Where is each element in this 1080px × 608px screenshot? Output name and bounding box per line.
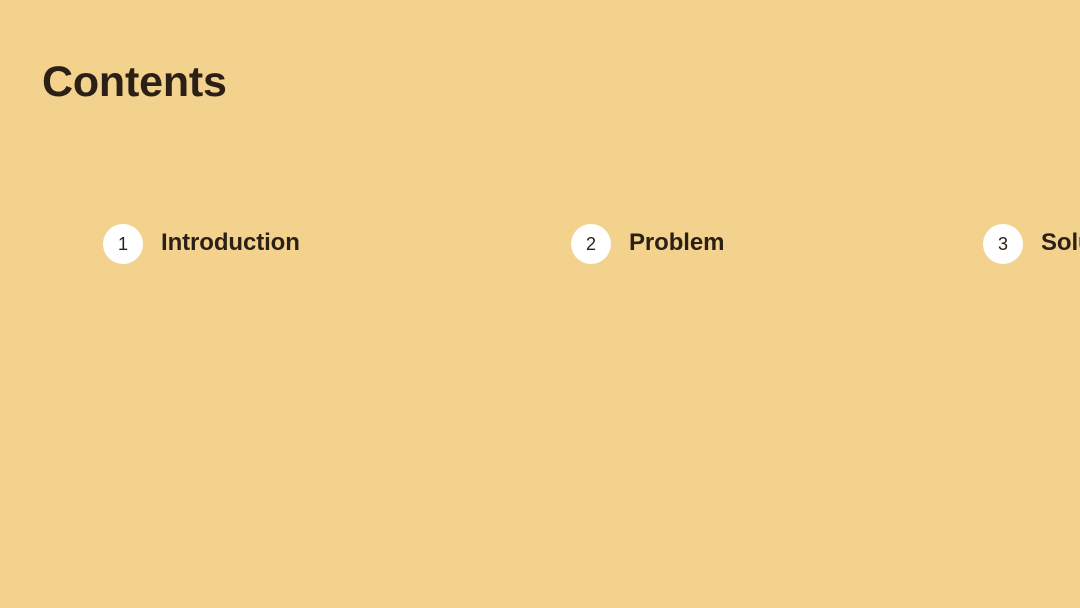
- item-number-badge: 1: [103, 224, 143, 264]
- item-label: Solution: [1041, 230, 1080, 256]
- contents-item-3[interactable]: 3 Solution: [983, 223, 1080, 264]
- item-number-badge: 3: [983, 224, 1023, 264]
- item-label: Problem: [629, 230, 724, 256]
- contents-list: 1 Introduction 2 Problem 3 Solution 4 Le…: [103, 223, 983, 291]
- item-number-badge: 2: [571, 224, 611, 264]
- contents-item-1[interactable]: 1 Introduction: [103, 223, 571, 264]
- contents-item-2[interactable]: 2 Problem: [571, 223, 983, 264]
- page-title: Contents: [42, 58, 227, 107]
- item-label: Introduction: [161, 230, 300, 256]
- slide-canvas: Contents 1 Introduction 2 Problem 3 Solu…: [0, 0, 1080, 608]
